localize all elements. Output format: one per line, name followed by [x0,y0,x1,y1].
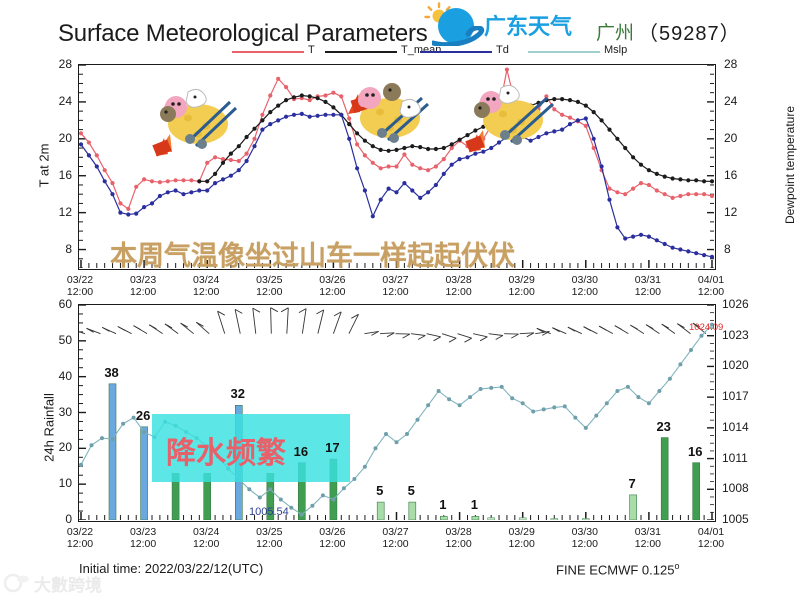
mslp-point [142,430,146,434]
x-axis-time-label: 12:00 [370,538,422,550]
x-axis-date-label: 03/29 [496,526,548,538]
legend-swatch-t [232,51,304,53]
series-point-t [268,93,272,97]
series-point-td [600,164,604,168]
wind-barb-shaft [318,310,324,334]
series-point-t [134,185,138,189]
axis-tick-label: 24 [724,94,737,108]
series-point-td [213,181,217,185]
wind-barb-feather [403,334,410,338]
series-point-td [205,188,209,192]
wind-barb-feather [646,325,653,329]
series-point-td [442,172,446,176]
logo-swoosh-icon [432,26,490,46]
series-point-td [379,198,383,202]
x-axis-tick-bottom: 03/2812:00 [433,526,485,550]
rainfall-bar-label: 16 [289,444,313,459]
wind-barb-shaft [302,309,306,334]
series-point-td [300,112,304,116]
mslp-point [500,385,504,389]
series-point-t [655,188,659,192]
x-axis-time-label: 12:00 [685,538,737,550]
axis-tick-label: 1005 [722,512,749,526]
series-point-t_mean [663,175,667,179]
series-point-t_mean [316,96,320,100]
series-point-t_mean [584,104,588,108]
rainfall-bar [377,502,384,520]
series-point-td [615,225,619,229]
x-axis-time-label: 12:00 [243,286,295,298]
brand-name: 广东天气 [484,9,572,41]
series-point-t [678,194,682,198]
wind-barb-shaft [458,334,472,339]
x-axis-time-label: 12:00 [180,286,232,298]
series-point-t_mean [323,100,327,104]
rainfall-bar-label: 38 [100,365,124,380]
model-degree-sup: o [674,561,679,571]
x-axis-tick-top: 03/2212:00 [54,274,106,298]
x-axis-date-label: 04/01 [685,274,737,286]
series-point-td [95,164,99,168]
series-point-td [252,144,256,148]
rainfall-bar [693,463,700,520]
wind-barb-feather [149,325,156,329]
mslp-point [395,440,399,444]
series-point-t [592,146,596,150]
series-point-t [189,178,193,182]
series-point-t_mean [702,179,706,183]
series-point-td [103,179,107,183]
series-point-td [229,174,233,178]
x-axis-tick-top: 04/0112:00 [685,274,737,298]
rainfall-bar-trace [488,518,495,520]
rainfall-bar-label: 7 [620,476,644,491]
x-axis-time-label: 12:00 [496,286,548,298]
x-axis-time-label: 12:00 [559,286,611,298]
mslp-point [657,389,661,393]
x-axis-date-label: 03/27 [370,526,422,538]
mslp-point [310,504,314,508]
mslp-min-label: 1005.54 [249,506,289,518]
wind-barb-shaft [411,334,425,336]
rainfall-bar [472,516,479,520]
series-point-t [252,137,256,141]
x-axis-tick-bottom: 03/2712:00 [370,526,422,550]
series-point-td [410,188,414,192]
mslp-point [342,486,346,490]
axis-tick-label: 8 [38,242,72,256]
mslp-point [121,422,125,426]
mslp-point [521,401,525,405]
x-axis-date-label: 03/26 [306,274,358,286]
x-axis-date-label: 03/31 [622,274,674,286]
mslp-point [700,334,704,338]
series-point-t [126,207,130,211]
mslp-point [363,465,367,469]
series-point-t_mean [710,179,714,183]
axis-tick-label: 0 [38,512,72,526]
series-point-td [402,181,406,185]
series-point-t [434,164,438,168]
series-point-td [655,238,659,242]
series-point-t_mean [450,142,454,146]
mslp-point [258,496,262,500]
series-point-t_mean [568,98,572,102]
mslp-point [279,498,283,502]
axis-tick-label: 60 [38,297,72,311]
rainfall-bar [630,495,637,520]
axis-tick-label: 10 [38,476,72,490]
axis-tick-label: 16 [38,168,72,182]
mslp-point [405,432,409,436]
series-point-td [647,235,651,239]
series-point-td [576,118,580,122]
x-axis-tick-top: 03/2712:00 [370,274,422,298]
axis-tick-label: 24 [38,94,72,108]
rainfall-bar-trace [519,518,526,520]
axis-tick-label: 28 [38,57,72,71]
series-point-td [686,249,690,253]
series-point-td [316,114,320,118]
x-axis-tick-bottom: 03/2512:00 [243,526,295,550]
wind-barb-feather [449,338,456,342]
legend-label-tmean: T_mean [401,44,441,56]
series-point-td [126,212,130,216]
series-point-t [450,146,454,150]
model-text: FINE ECMWF 0.125o [556,561,679,577]
series-point-t [623,192,627,196]
x-axis-time-label: 12:00 [180,538,232,550]
series-point-t [95,153,99,157]
rainfall-bar-label: 1 [462,497,486,512]
rainfall-bar-label: 32 [226,386,250,401]
wind-barb-feather [584,327,591,331]
wind-barb-feather [299,309,306,313]
series-point-td [607,198,611,202]
series-point-t_mean [252,127,256,131]
series-point-t [686,192,690,196]
axis-tick-label: 28 [724,57,737,71]
wind-barb-shaft [235,309,240,333]
series-point-t_mean [284,98,288,102]
series-point-t [308,98,312,102]
series-point-td [245,159,249,163]
series-point-td [671,246,675,250]
series-point-t [631,187,635,191]
series-point-t [79,131,83,135]
mslp-point [563,404,567,408]
rainfall-bar-label: 16 [683,444,707,459]
mslp-point [321,493,325,497]
x-axis-tick-bottom: 03/2312:00 [117,526,169,550]
series-point-td [134,212,138,216]
series-point-t_mean [576,100,580,104]
x-axis-time-label: 12:00 [370,286,422,298]
x-axis-date-label: 03/31 [622,526,674,538]
x-axis-tick-bottom: 03/2212:00 [54,526,106,550]
series-point-td [87,153,91,157]
series-point-t [615,190,619,194]
series-point-t [426,168,430,172]
series-point-t [379,166,383,170]
x-axis-time-label: 12:00 [496,538,548,550]
wind-barb-feather [253,308,260,312]
series-point-t [166,179,170,183]
x-axis-date-label: 03/28 [433,274,485,286]
legend-swatch-td [420,51,492,53]
wind-barb-feather [552,328,559,332]
series-point-t [245,152,249,156]
x-axis-time-label: 12:00 [54,286,106,298]
series-point-td [237,168,241,172]
series-point-td [142,205,146,209]
series-point-t [710,194,714,198]
x-axis-date-label: 04/01 [685,526,737,538]
x-axis-tick-bottom: 03/2612:00 [306,526,358,550]
mslp-point [416,418,420,422]
series-point-t_mean [686,178,690,182]
series-point-t_mean [205,179,209,183]
series-point-t_mean [245,135,249,139]
series-point-td [710,255,714,259]
series-point-t_mean [678,177,682,181]
series-point-t [442,157,446,161]
series-point-td [118,211,122,215]
series-point-t_mean [292,95,296,99]
axis-tick-label: 1017 [722,389,749,403]
wind-barb-shaft [196,322,209,333]
x-axis-time-label: 12:00 [433,286,485,298]
series-point-td [678,247,682,251]
series-point-t [702,192,706,196]
x-axis-tick-top: 03/2912:00 [496,274,548,298]
x-axis-date-label: 03/28 [433,526,485,538]
header: Surface Meteorological Parameters 广东天气 广… [0,0,800,46]
series-point-td [426,190,430,194]
series-point-t_mean [694,178,698,182]
rainfall-bar-label: 5 [368,483,392,498]
mslp-point [626,385,630,389]
series-point-td [268,122,272,126]
wind-barb-shaft [287,308,288,334]
series-point-t_mean [434,147,438,151]
series-point-td [560,128,564,132]
series-point-t_mean [276,104,280,108]
series-point-td [150,201,154,205]
series-point-td [592,137,596,141]
legend: T T_mean Td Mslp [0,44,800,60]
series-point-t_mean [308,94,312,98]
series-point-t [694,192,698,196]
mslp-point [594,414,598,418]
series-point-t [284,85,288,89]
series-point-t [260,113,264,117]
rainfall-bar [109,384,116,520]
mslp-point [668,377,672,381]
series-point-t_mean [268,110,272,114]
mslp-max-label: 1024.09 [689,322,723,333]
series-point-td [639,233,643,237]
series-point-td [387,187,391,191]
wind-barb-feather [465,338,472,342]
series-point-td [308,115,312,119]
x-axis-tick-top: 03/3012:00 [559,274,611,298]
series-point-t_mean [647,168,651,172]
x-axis-time-label: 12:00 [622,538,674,550]
mslp-point [111,437,115,441]
temperature-annotation-cn: 本周气温像坐过山车一样起起伏伏 [110,234,515,273]
x-axis-date-label: 03/24 [180,526,232,538]
series-point-t [560,113,564,117]
rainfall-bar-label: 1 [431,497,455,512]
wind-barb-shaft [271,308,272,334]
axis-tick-label: 1014 [722,420,749,434]
series-point-t [103,168,107,172]
rainfall-bar-label: 5 [399,483,423,498]
series-point-t [118,201,122,205]
x-axis-date-label: 03/24 [180,274,232,286]
wind-barb-feather [511,334,518,338]
rainfall-bar [409,502,416,520]
rainfall-bar [141,427,148,520]
mslp-point [531,410,535,414]
series-point-t_mean [639,163,643,167]
x-axis-tick-bottom: 03/2912:00 [496,526,548,550]
rainfall-bar [440,516,447,520]
x-axis-time-label: 12:00 [54,538,106,550]
mslp-point [247,487,251,491]
series-point-td [166,190,170,194]
series-point-td [174,188,178,192]
wind-barb-feather [418,336,425,340]
axis-tick-label: 50 [38,333,72,347]
rainfall-bar-label: 17 [320,440,344,455]
x-axis-tick-top: 03/2312:00 [117,274,169,298]
x-axis-date-label: 03/23 [117,526,169,538]
series-point-td [197,188,201,192]
series-point-td [323,113,327,117]
axis-tick-label: 40 [38,369,72,383]
legend-swatch-mslp [528,51,600,53]
series-point-t_mean [600,118,604,122]
series-point-td [568,122,572,126]
series-point-td [450,163,454,167]
x-axis-time-label: 12:00 [622,286,674,298]
x-axis-tick-top: 03/2812:00 [433,274,485,298]
series-point-t [394,164,398,168]
legend-swatch-tmean [325,51,397,53]
mslp-point [615,389,619,393]
x-axis-time-label: 12:00 [243,538,295,550]
x-axis-tick-top: 03/2412:00 [180,274,232,298]
x-axis-time-label: 12:00 [306,538,358,550]
model-name: FINE ECMWF 0.125 [556,562,674,577]
x-axis-time-label: 12:00 [685,286,737,298]
x-axis-tick-bottom: 04/0112:00 [685,526,737,550]
roller-coaster-sticker-2 [330,76,430,162]
wind-barb-feather [599,326,606,330]
series-point-t_mean [623,146,627,150]
series-point-td [189,190,193,194]
series-point-t_mean [260,118,264,122]
wind-barb-feather [118,327,125,331]
series-point-t_mean [615,137,619,141]
series-point-t [142,177,146,181]
mslp-point [300,513,304,517]
series-point-t [647,183,651,187]
mslp-point [437,389,441,393]
legend-label-t: T [308,44,315,56]
mslp-point [636,395,640,399]
mslp-point [573,416,577,420]
series-point-t [174,178,178,182]
series-point-td [418,196,422,200]
x-axis-tick-bottom: 03/3012:00 [559,526,611,550]
mslp-point [647,401,651,405]
wind-barb-feather [568,327,575,331]
watermark-text: 大數跨境 [34,571,102,596]
x-axis-date-label: 03/29 [496,274,548,286]
x-axis-date-label: 03/25 [243,274,295,286]
axis-tick-label: 20 [724,131,737,145]
series-point-t_mean [631,155,635,159]
series-point-t [110,181,114,185]
series-point-td [110,192,114,196]
axis-tick-label: 1026 [722,297,749,311]
wind-barb-feather [271,308,278,312]
station-id: （59287） [638,17,741,46]
series-point-t [568,116,572,120]
camera-logo-icon [4,573,30,593]
axis-tick-label: 1008 [722,481,749,495]
x-axis-date-label: 03/30 [559,526,611,538]
watermark: 大數跨境 [4,570,116,596]
mslp-point [79,463,83,467]
mslp-point [426,403,430,407]
mslp-point [331,498,335,502]
series-point-t [87,140,91,144]
series-point-t [418,166,422,170]
series-point-td [363,188,367,192]
series-point-td [434,183,438,187]
x-axis-date-label: 03/25 [243,526,295,538]
series-point-td [702,253,706,257]
weather-logo-icon [424,2,490,46]
wind-barb-feather [102,327,109,331]
series-point-td [292,113,296,117]
roller-coaster-sticker-1 [140,82,238,166]
wind-barb-shaft [473,334,487,337]
rainfall-annotation-cn: 降水频繁 [166,428,286,472]
wind-barb-row [79,308,706,343]
axis-tick-label: 1023 [722,328,749,342]
mslp-point [352,477,356,481]
x-axis-date-label: 03/27 [370,274,422,286]
mslp-point [584,426,588,430]
mslp-point [479,387,483,391]
wind-barb-feather [630,325,637,329]
mslp-point [678,362,682,366]
mslp-point [510,396,514,400]
mslp-point [374,446,378,450]
x-axis-tick-top: 03/3112:00 [622,274,674,298]
wind-barb-shaft [489,334,503,336]
x-axis-time-label: 12:00 [433,538,485,550]
series-point-t_mean [655,172,659,176]
rainfall-mslp-plot [79,305,714,520]
series-point-t_mean [607,128,611,132]
series-point-td [371,214,375,218]
